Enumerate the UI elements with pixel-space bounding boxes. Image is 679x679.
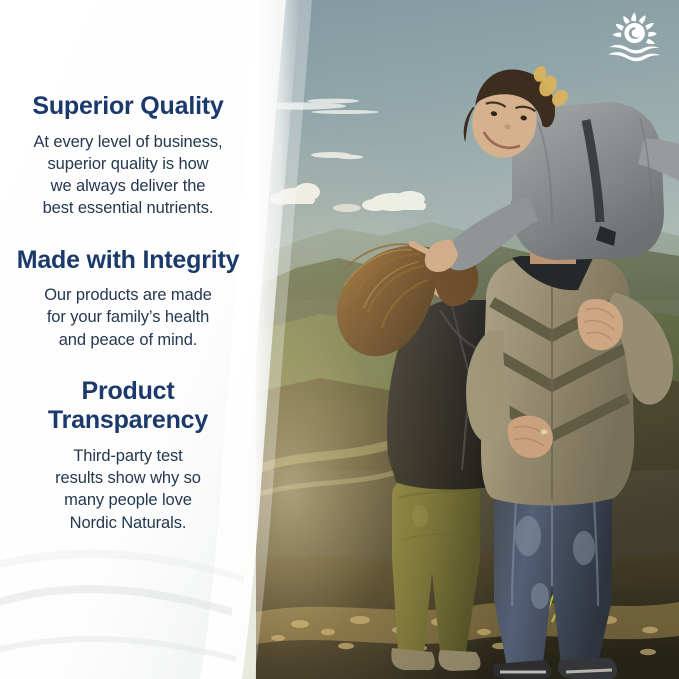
body-line: Third-party test bbox=[19, 445, 237, 467]
brand-panel-graphic: Superior Quality At every level of busin… bbox=[0, 0, 679, 679]
heading-line: Made with bbox=[17, 246, 136, 274]
body-line: results show why so bbox=[19, 467, 237, 489]
value-block-product-transparency: Product Transparency Third-party test re… bbox=[5, 377, 251, 534]
heading-line: Integrity bbox=[142, 246, 239, 274]
heading-superior-quality: Superior Quality bbox=[5, 92, 251, 122]
body-line: and peace of mind. bbox=[19, 329, 237, 351]
body-line: Nordic Naturals. bbox=[19, 512, 237, 534]
value-block-superior-quality: Superior Quality At every level of busin… bbox=[5, 92, 251, 220]
body-line: many people love bbox=[19, 489, 237, 511]
body-made-with-integrity: Our products are made for your family’s … bbox=[5, 284, 251, 351]
heading-made-with-integrity: Made with Integrity bbox=[5, 246, 251, 276]
heading-line: Quality bbox=[140, 92, 223, 120]
body-line: superior quality is how bbox=[19, 153, 237, 175]
value-proposition-list: Superior Quality At every level of busin… bbox=[0, 0, 256, 679]
body-product-transparency: Third-party test results show why so man… bbox=[5, 445, 251, 534]
body-line: best essential nutrients. bbox=[19, 197, 237, 219]
heading-line: Transparency bbox=[48, 406, 208, 434]
value-block-made-with-integrity: Made with Integrity Our products are mad… bbox=[5, 246, 251, 351]
heading-line: Product bbox=[81, 377, 174, 405]
body-superior-quality: At every level of business, superior qua… bbox=[5, 131, 251, 220]
body-line: we always deliver the bbox=[19, 175, 237, 197]
heading-line: Superior bbox=[32, 92, 133, 120]
body-line: for your family’s health bbox=[19, 306, 237, 328]
body-line: At every level of business, bbox=[19, 131, 237, 153]
heading-product-transparency: Product Transparency bbox=[5, 377, 251, 436]
body-line: Our products are made bbox=[19, 284, 237, 306]
sun-wave-logo-icon bbox=[603, 10, 665, 66]
